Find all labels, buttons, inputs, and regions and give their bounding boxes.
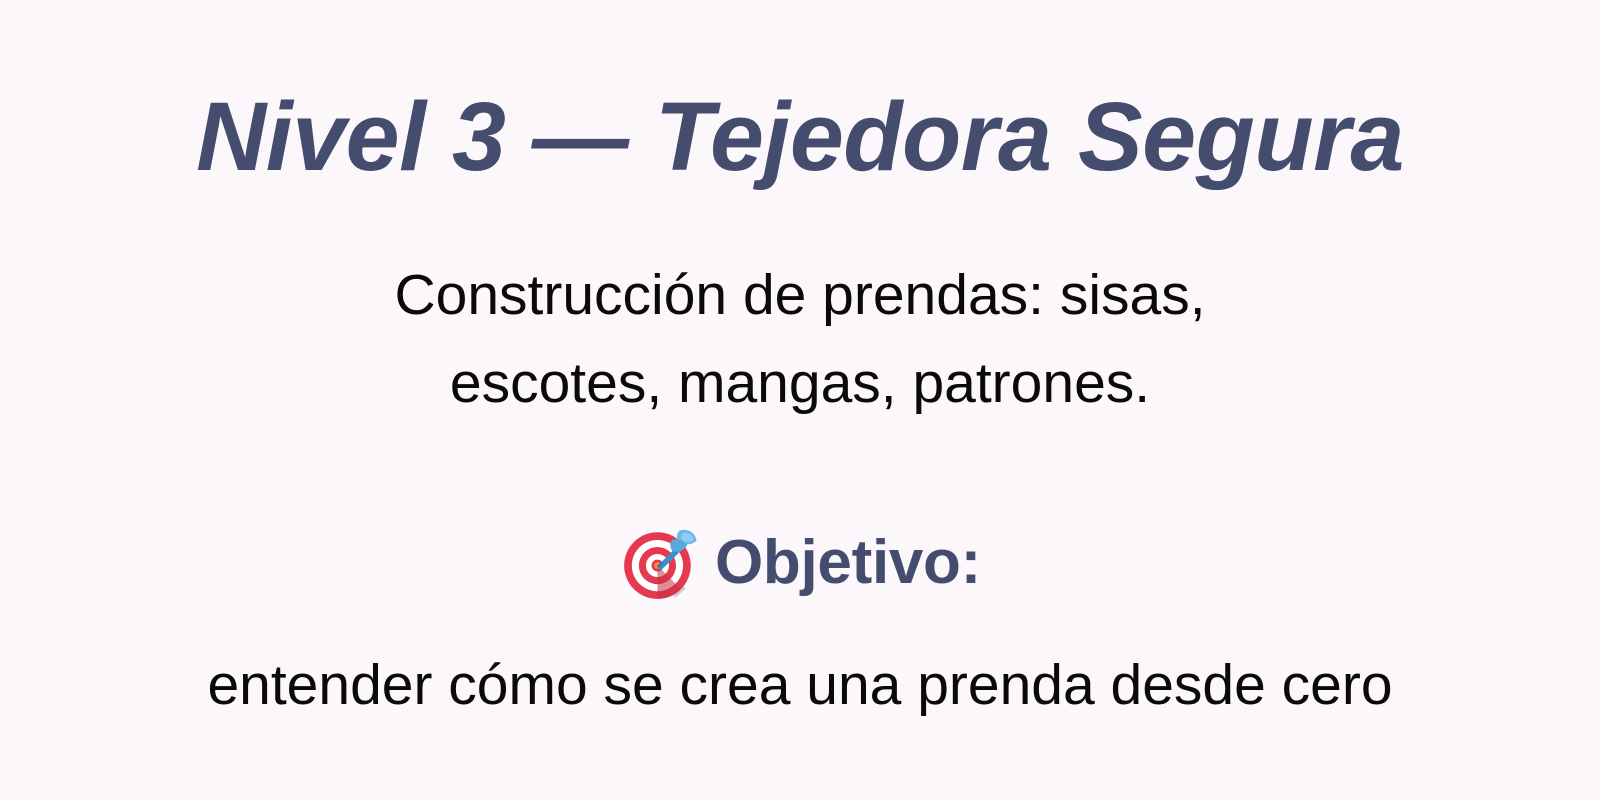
page-title: Nivel 3 — Tejedora Segura	[0, 88, 1600, 185]
dart-emoji-icon	[619, 522, 701, 604]
slide-root: Nivel 3 — Tejedora Segura Construcción d…	[0, 0, 1600, 800]
slide-subtitle: Construcción de prendas: sisas, escotes,…	[170, 251, 1430, 428]
objective-label: Objetivo:	[715, 532, 981, 594]
objective-body-text: entender cómo se crea una prenda desde c…	[0, 648, 1600, 722]
objective-heading: Objetivo:	[0, 522, 1600, 604]
